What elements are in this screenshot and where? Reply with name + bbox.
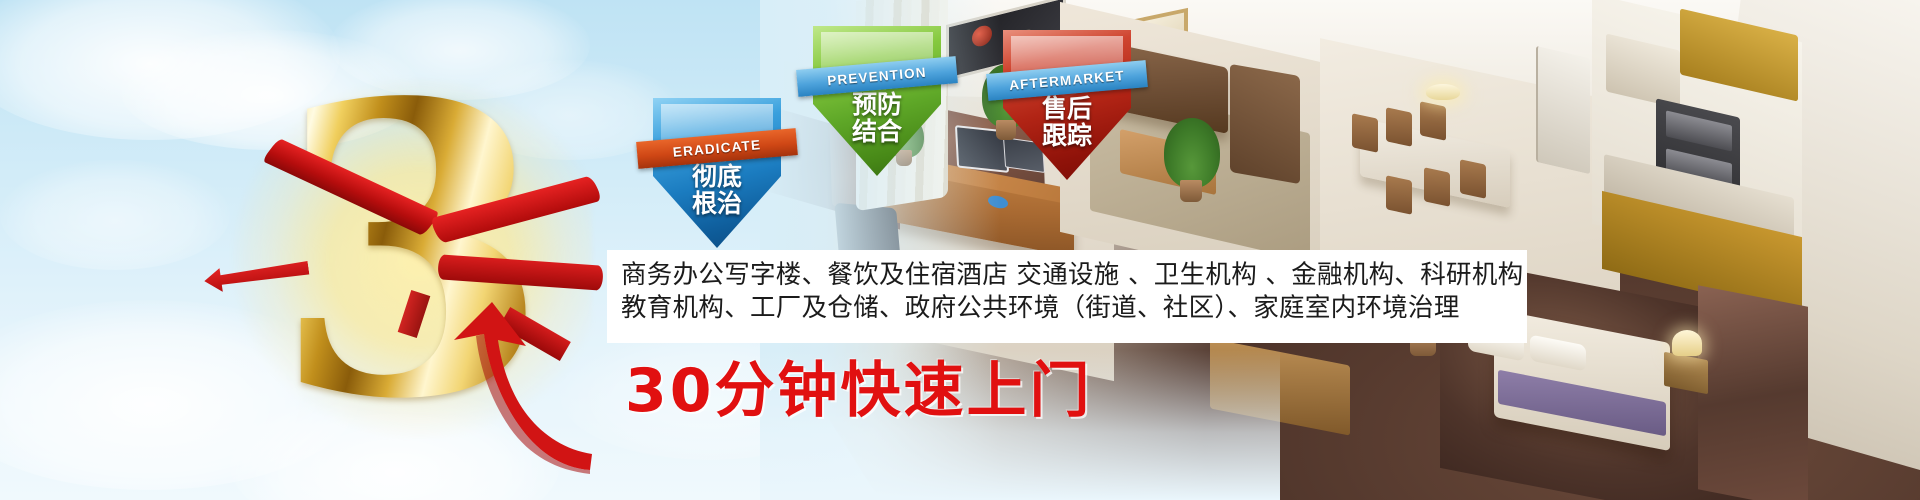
badge-cn-line2: 跟踪 [1003, 123, 1131, 150]
sofa-secondary [1230, 64, 1300, 184]
badge-eradicate: 彻底 根治 ERADICATE [653, 98, 781, 248]
badge-chinese-text: 彻底 根治 [653, 164, 781, 218]
refrigerator [1536, 46, 1590, 174]
service-scope-line-2: 教育机构、工厂及仓储、政府公共环境（街道、社区）、家庭室内环境治理 [621, 292, 1513, 325]
plant-pot [1180, 180, 1202, 202]
promo-headline: 30分钟快速上门 [625, 358, 1093, 424]
badge-cn-line1: 售后 [1003, 96, 1131, 123]
service-scope-line-1: 商务办公写字楼、餐饮及住宿酒店 交通设施 、卫生机构 、金融机构、科研机构 [621, 259, 1513, 292]
table-lamp [1672, 330, 1702, 356]
dining-chair [1386, 175, 1412, 215]
cloud-decoration [0, 160, 230, 270]
badge-cn-line2: 根治 [653, 191, 781, 218]
dining-chair [1460, 159, 1486, 199]
plant-icon [1164, 118, 1220, 188]
promo-banner: 3 彻底 根治 ERADICATE 预防 结合 [0, 0, 1920, 500]
marble-column [1698, 285, 1808, 500]
badge-chinese-text: 售后 跟踪 [1003, 96, 1131, 150]
badge-cn-line2: 结合 [813, 119, 941, 146]
pendant-lamp [1426, 84, 1460, 100]
badge-prevention: 预防 结合 PREVENTION [813, 26, 941, 176]
dining-chair [1420, 101, 1446, 141]
badge-aftermarket: 售后 跟踪 AFTERMARKET [1003, 30, 1131, 180]
service-scope-panel: 商务办公写字楼、餐饮及住宿酒店 交通设施 、卫生机构 、金融机构、科研机构 教育… [607, 250, 1527, 343]
badge-chinese-text: 预防 结合 [813, 92, 941, 146]
badge-cn-line1: 彻底 [653, 164, 781, 191]
dining-chair [1352, 113, 1378, 153]
badge-cn-line1: 预防 [813, 92, 941, 119]
dining-chair [1386, 107, 1412, 147]
red-arrow-icon [440, 300, 600, 475]
dining-chair [1424, 167, 1450, 207]
